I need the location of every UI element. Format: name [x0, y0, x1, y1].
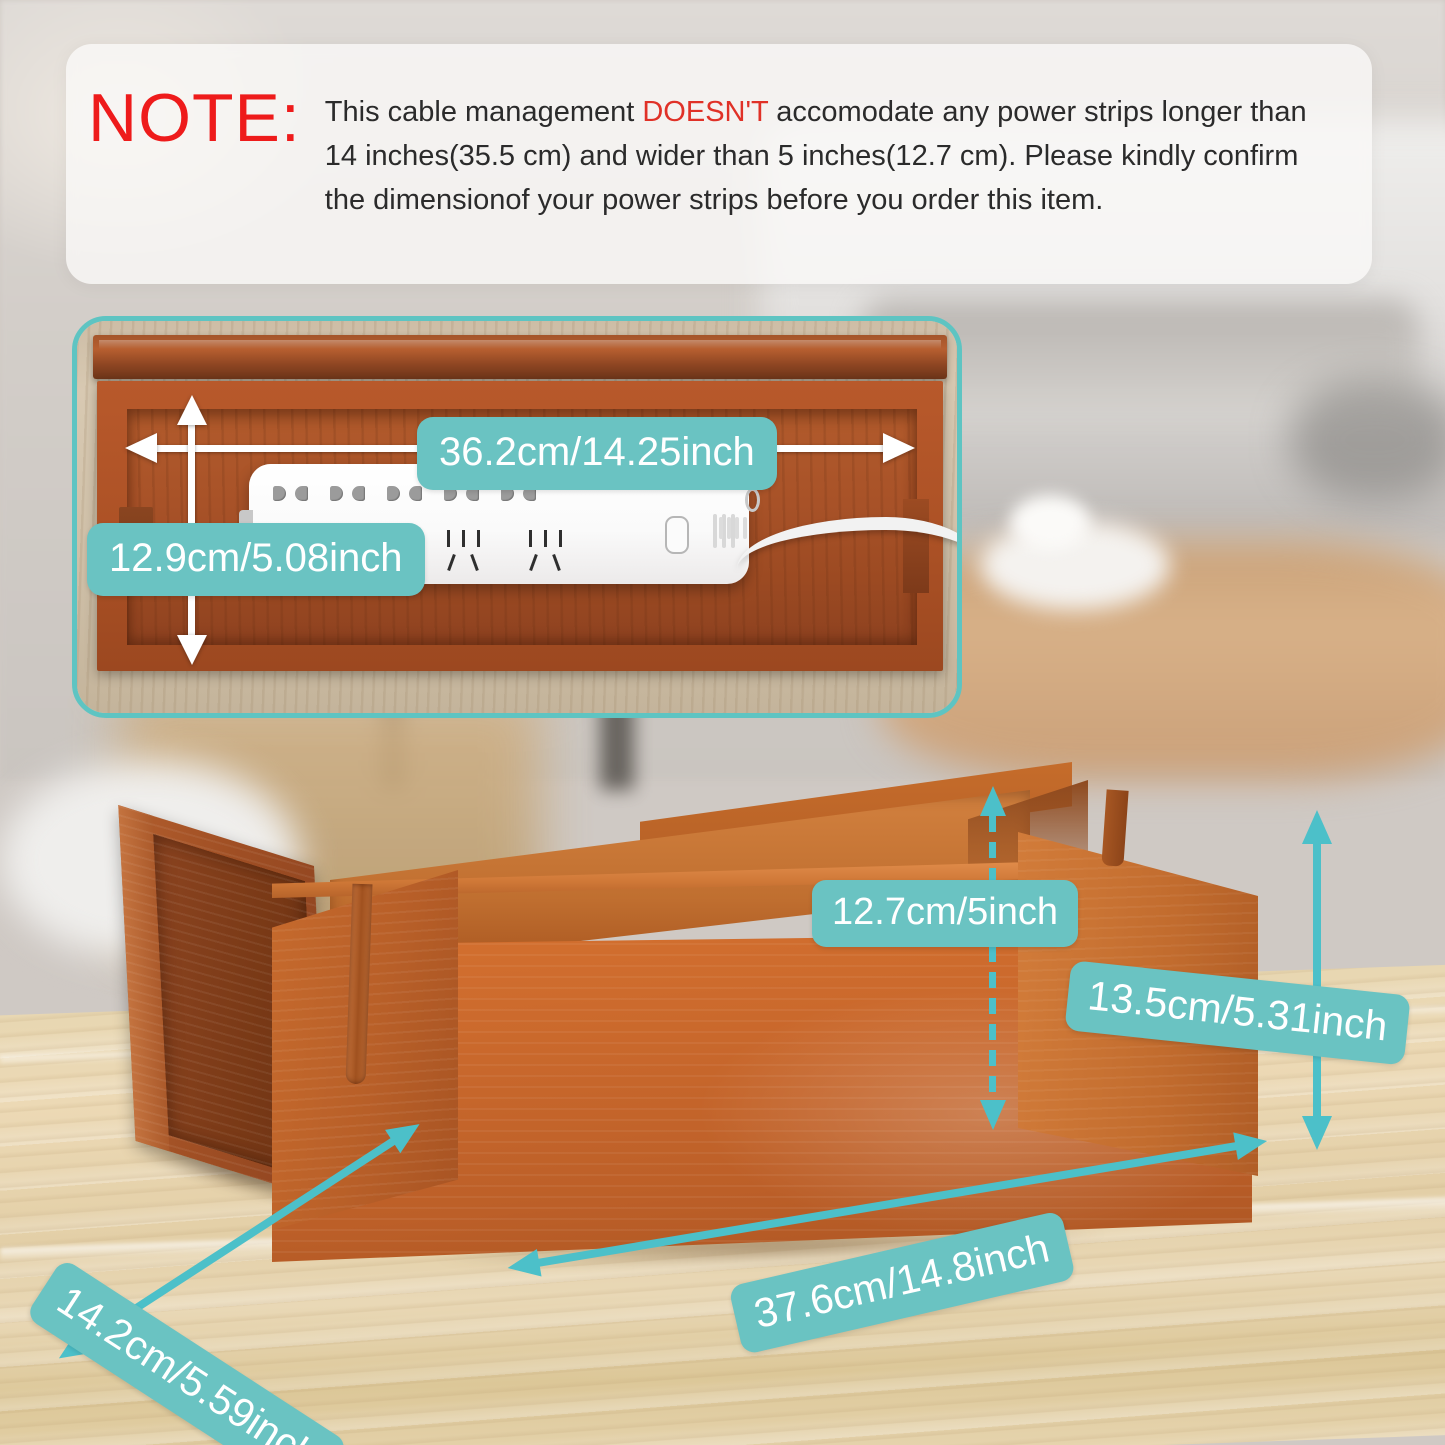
arrow-interior-depth: [976, 786, 1010, 1130]
product-photo-main: 12.7cm/5inch 13.5cm/5.31inch 37.6cm/14.8…: [0, 0, 1445, 1445]
product-infographic: NOTE: This cable management DOESN'T acco…: [0, 0, 1445, 1445]
label-interior-depth: 12.7cm/5inch: [812, 880, 1078, 947]
arrow-exterior-height: [1300, 810, 1334, 1150]
box-cable-slot-right: [1101, 789, 1128, 866]
